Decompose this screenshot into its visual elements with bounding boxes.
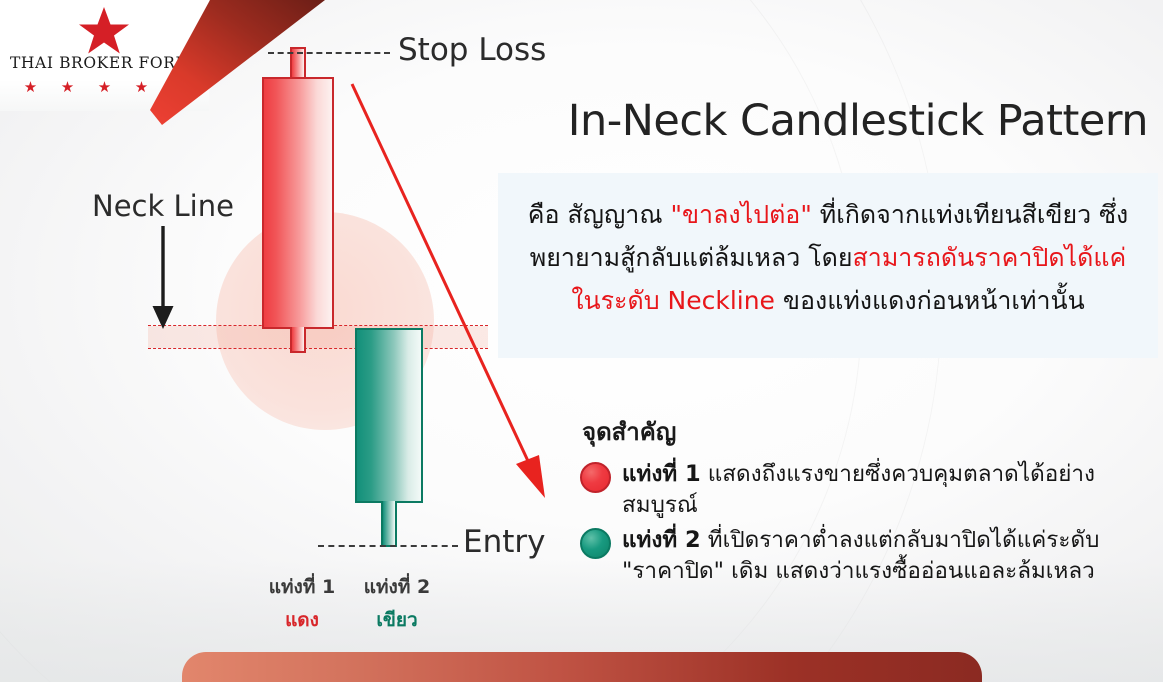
key-point-label: แท่งที่ 1 xyxy=(622,461,701,487)
description-line-2: พยายามสู้กลับแต่ล้มเหลว โดยสามารถดันราคา… xyxy=(516,236,1140,279)
entry-label: Entry xyxy=(463,524,545,560)
description-line-1: คือ สัญญาณ "ขาลงไปต่อ" ที่เกิดจากแท่งเที… xyxy=(516,193,1140,236)
candle2-caption-color: เขียว xyxy=(343,605,451,635)
candle1-caption-name: แท่งที่ 1 xyxy=(248,572,356,602)
bottom-banner-bar xyxy=(182,652,982,682)
green-circle-icon xyxy=(580,528,611,559)
description-text: พยายามสู้กลับแต่ล้มเหลว โดย xyxy=(530,243,853,272)
description-text: คือ สัญญาณ xyxy=(528,200,671,229)
neck-line-arrow-icon xyxy=(147,226,179,330)
candle2-caption-name: แท่งที่ 2 xyxy=(343,572,451,602)
neck-line-label: Neck Line xyxy=(92,189,234,223)
key-points-section: จุดสำคัญ แท่งที่ 1 แสดงถึงแรงขายซึ่งควบค… xyxy=(580,412,1160,591)
key-point-item: แท่งที่ 2 ที่เปิดราคาต่ำลงแต่กลับมาปิดได… xyxy=(580,525,1160,587)
description-line-3: ในระดับ Neckline ของแท่งแดงก่อนหน้าเท่าน… xyxy=(516,279,1140,322)
entry-dashed-line xyxy=(318,545,458,547)
candle1-caption: แท่งที่ 1 แดง xyxy=(248,572,356,635)
infographic-canvas: THAI BROKER FOREX ★ ★ ★ ★ ★ xyxy=(0,0,1163,682)
candle1-lower-wick xyxy=(290,327,306,353)
description-highlight: สามารถดันราคาปิดได้แค่ xyxy=(853,243,1127,272)
key-point-text: แท่งที่ 1 แสดงถึงแรงขายซึ่งควบคุมตลาดได้… xyxy=(622,459,1160,521)
candle1-body-red xyxy=(262,77,334,329)
key-point-body: ที่เปิดราคาต่ำลงแต่กลับมาปิดได้แค่ระดับ xyxy=(701,527,1100,553)
stop-loss-label: Stop Loss xyxy=(398,32,546,68)
candle2-caption: แท่งที่ 2 เขียว xyxy=(343,572,451,635)
key-point-body-second-line: "ราคาปิด" เดิม แสดงว่าแรงซื้ออ่อนแอละล้ม… xyxy=(622,556,1099,587)
description-highlight: "ขาลงไปต่อ" xyxy=(670,200,811,229)
red-circle-icon xyxy=(580,462,611,493)
description-text: ที่เกิดจากแท่งเทียนสีเขียว ซึ่ง xyxy=(812,200,1128,229)
key-point-text: แท่งที่ 2 ที่เปิดราคาต่ำลงแต่กลับมาปิดได… xyxy=(622,525,1099,587)
key-point-label: แท่งที่ 2 xyxy=(622,527,701,553)
candle1-caption-color: แดง xyxy=(248,605,356,635)
description-highlight: ในระดับ Neckline xyxy=(571,286,775,315)
key-points-title: จุดสำคัญ xyxy=(582,412,1160,451)
key-point-item: แท่งที่ 1 แสดงถึงแรงขายซึ่งควบคุมตลาดได้… xyxy=(580,459,1160,521)
description-panel: คือ สัญญาณ "ขาลงไปต่อ" ที่เกิดจากแท่งเที… xyxy=(498,173,1158,358)
description-text: ของแท่งแดงก่อนหน้าเท่านั้น xyxy=(775,286,1085,315)
page-title: In-Neck Candlestick Pattern xyxy=(508,96,1148,146)
stop-loss-dashed-line xyxy=(268,52,390,54)
